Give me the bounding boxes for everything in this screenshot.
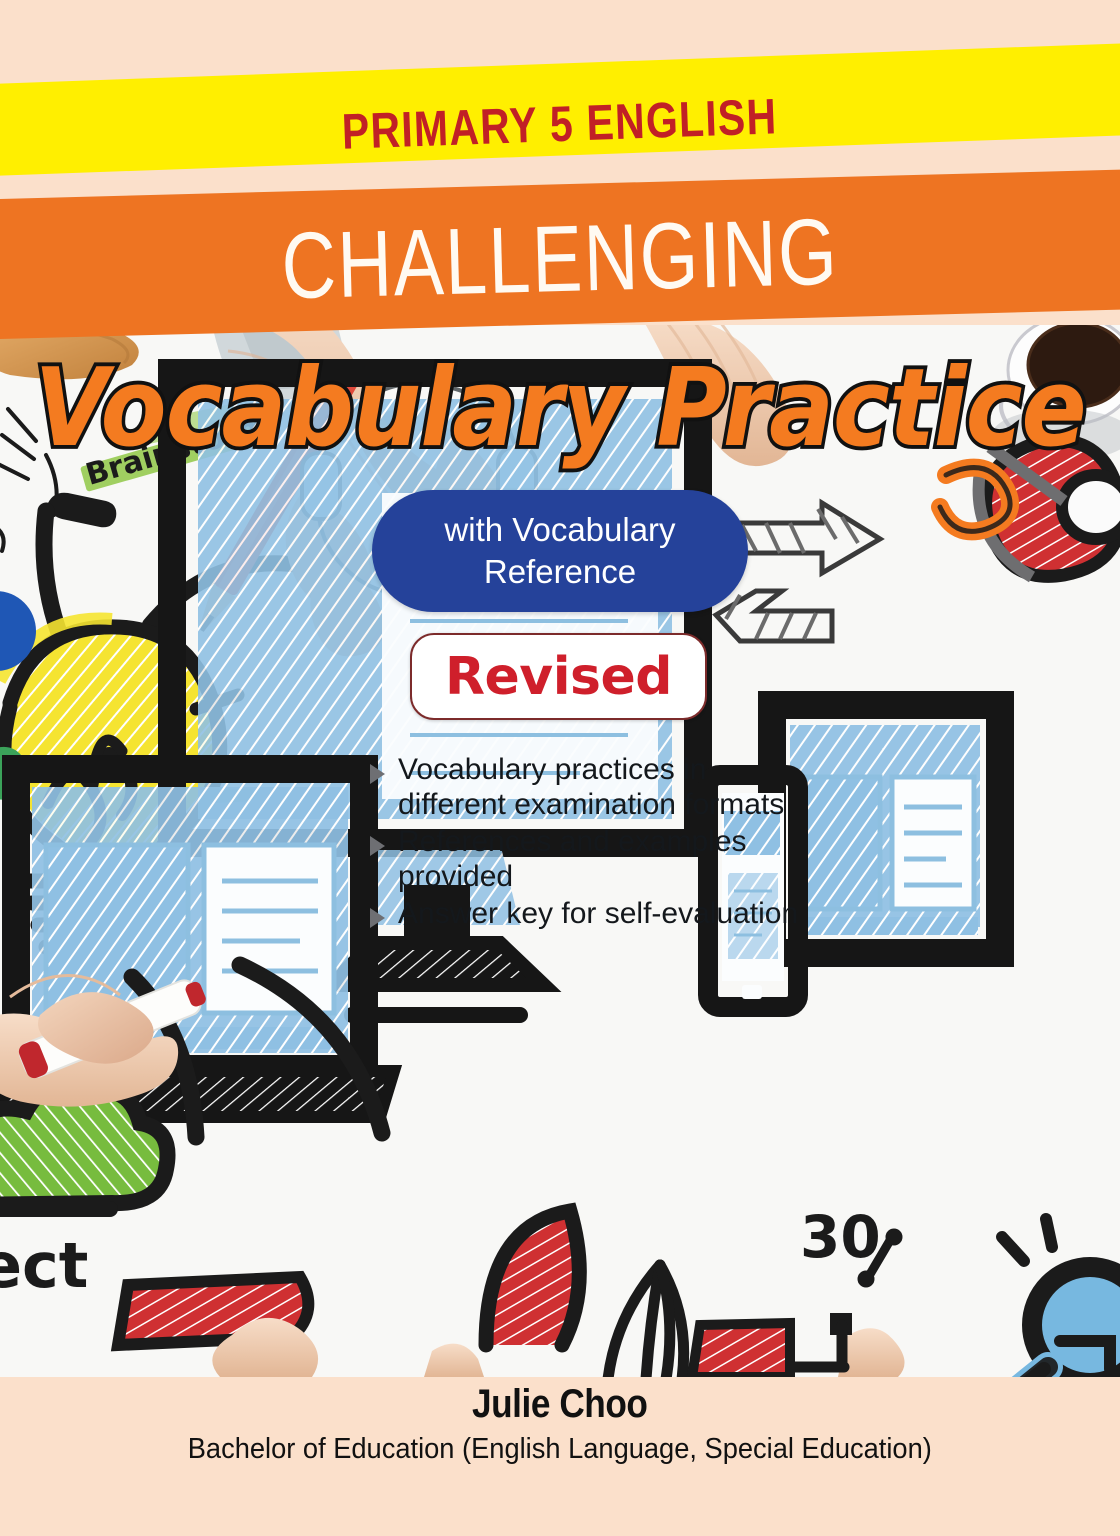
feature-text: Answer key for self-evaluation <box>398 896 798 931</box>
triangle-bullet-icon <box>370 764 385 784</box>
list-item: Vocabulary practices in different examin… <box>370 752 800 822</box>
series-band <box>0 42 1120 177</box>
list-item: Answer key for self-evaluation <box>370 896 800 931</box>
author-credential: Bachelor of Education (English Language,… <box>188 1433 932 1466</box>
edition-badge: Revised <box>410 633 707 720</box>
feature-text: Vocabulary practices in different examin… <box>398 752 800 822</box>
red-stripes-bottom <box>692 1323 790 1377</box>
subtitle-badge-text: with Vocabulary Reference <box>372 509 748 593</box>
book-cover: Brainstorm <box>0 0 1120 1536</box>
subtitle-badge: with Vocabulary Reference <box>372 490 748 612</box>
edition-badge-text: Revised <box>445 647 672 707</box>
feature-text: References and examples provided <box>398 824 800 894</box>
svg-text:30: 30 <box>800 1203 881 1271</box>
level-band <box>0 169 1120 340</box>
triangle-bullet-icon <box>370 908 385 928</box>
triangle-bullet-icon <box>370 836 385 856</box>
partial-word-text: ect <box>0 1229 88 1302</box>
author-footer: Julie Choo Bachelor of Education (Englis… <box>0 1382 1120 1466</box>
feature-list: Vocabulary practices in different examin… <box>370 752 800 933</box>
list-item: References and examples provided <box>370 824 800 894</box>
author-name: Julie Choo <box>472 1382 648 1427</box>
